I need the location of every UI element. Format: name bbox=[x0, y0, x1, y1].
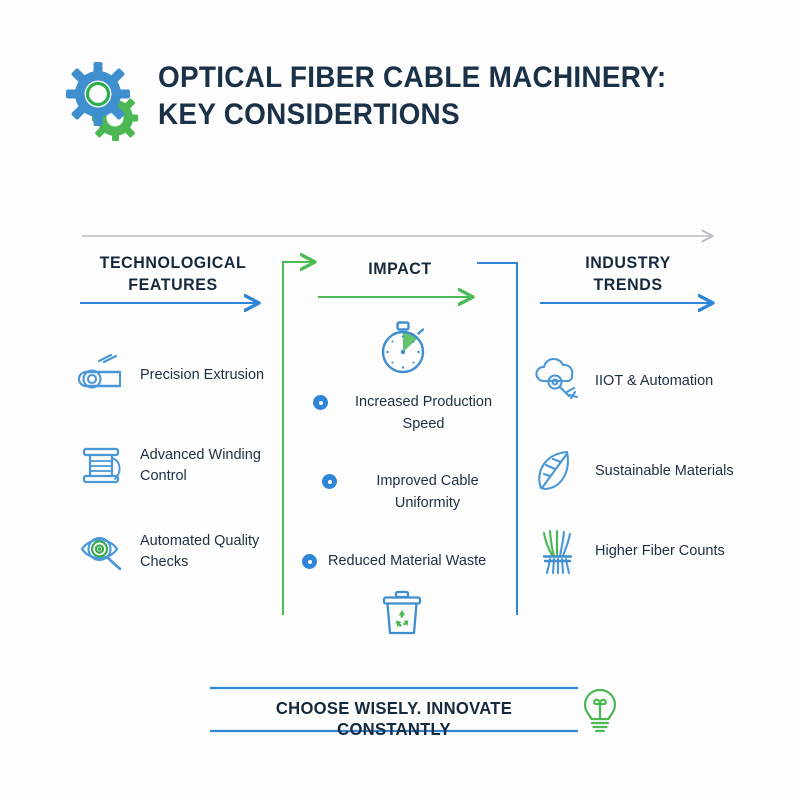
column-title-line-2: TRENDS bbox=[539, 274, 718, 296]
list-item[interactable]: Advanced Winding Control bbox=[78, 442, 308, 490]
column-title-industry-trends: INDUSTRY TRENDS bbox=[539, 252, 718, 297]
header: Optical Fiber Cable Machinery: Key Consi… bbox=[0, 0, 800, 170]
page-title: Optical Fiber Cable Machinery: Key Consi… bbox=[158, 60, 716, 133]
list-item-label: IIOT & Automation bbox=[595, 371, 713, 392]
eye-inspection-icon bbox=[78, 528, 128, 576]
cable-spool-icon bbox=[78, 442, 128, 490]
column-title-line-2: FEATURES bbox=[84, 274, 263, 296]
bullet-dot-icon bbox=[322, 474, 337, 489]
list-item-label: Higher Fiber Counts bbox=[595, 541, 725, 562]
recycle-bin-icon bbox=[381, 590, 423, 636]
stopwatch-icon bbox=[374, 320, 432, 378]
cloud-robot-arm-icon bbox=[533, 358, 583, 406]
list-item-label: Automated Quality Checks bbox=[140, 531, 308, 573]
lightbulb-icon bbox=[580, 688, 620, 734]
column-title-line-1: TECHNOLOGICAL bbox=[84, 252, 263, 274]
list-item[interactable]: Sustainable Materials bbox=[533, 448, 773, 496]
list-item-label: Sustainable Materials bbox=[595, 461, 734, 482]
footer-tagline: Choose Wisely. Innovate Constantly bbox=[217, 698, 570, 740]
infographic-canvas: Optical Fiber Cable Machinery: Key Consi… bbox=[0, 0, 800, 800]
list-item[interactable]: Precision Extrusion bbox=[78, 352, 308, 400]
column-title-impact: Impact bbox=[311, 258, 490, 280]
list-item[interactable]: IIOT & Automation bbox=[533, 358, 773, 406]
bullet-label: Reduced Material Waste bbox=[328, 551, 486, 573]
bullet-item[interactable]: Increased Production Speed bbox=[313, 392, 508, 436]
leaf-icon bbox=[533, 448, 583, 496]
bullet-dot-icon bbox=[313, 395, 328, 410]
column-title-line-1: INDUSTRY bbox=[539, 252, 718, 274]
column-title-technological-features: TECHNOLOGICAL FEATURES bbox=[84, 252, 263, 297]
bullet-item[interactable]: Improved Cable Uniformity bbox=[322, 471, 507, 515]
list-item-label: Precision Extrusion bbox=[140, 365, 264, 386]
bullet-label: Improved Cable Uniformity bbox=[348, 471, 507, 515]
gears-icon bbox=[62, 56, 154, 148]
list-item-label: Advanced Winding Control bbox=[140, 445, 308, 487]
extruder-roller-icon bbox=[78, 352, 128, 400]
fiber-bundle-icon bbox=[533, 528, 583, 576]
bullet-item[interactable]: Reduced Material Waste bbox=[302, 551, 507, 573]
bullet-dot-icon bbox=[302, 554, 317, 569]
list-item[interactable]: Automated Quality Checks bbox=[78, 528, 308, 576]
bullet-label: Increased Production Speed bbox=[339, 392, 508, 436]
list-item[interactable]: Higher Fiber Counts bbox=[533, 528, 773, 576]
